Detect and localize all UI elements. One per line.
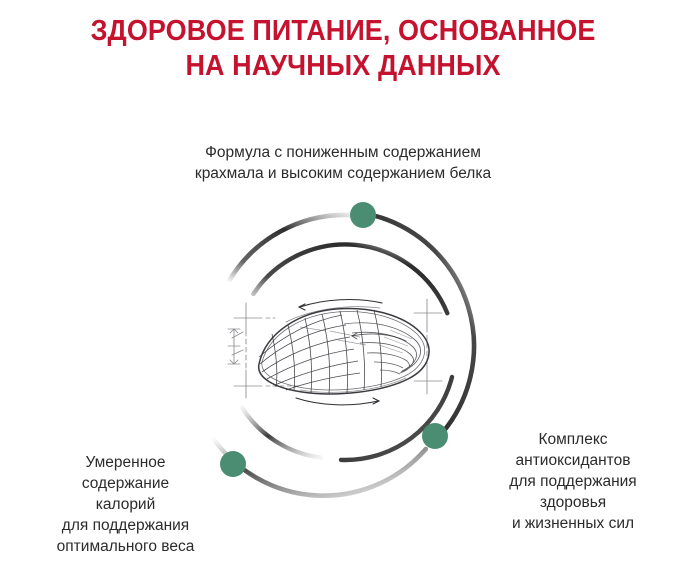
node-top-icon [350, 202, 376, 228]
label-left-line-2: содержание [18, 473, 233, 494]
label-right-line-1: Комплекс [468, 429, 678, 450]
outer-ring [214, 215, 474, 496]
label-right-line-3: для поддержания [468, 471, 678, 492]
label-right-line-4: здоровья [468, 492, 678, 513]
label-left-line-4: для поддержания [18, 515, 233, 536]
label-low-starch-high-protein: Формула с пониженным содержанием крахмал… [0, 142, 686, 184]
label-left-line-1: Умеренное [18, 452, 233, 473]
label-left-line-3: калорий [18, 494, 233, 515]
label-antioxidant-complex: Комплекс антиоксидантов для поддержания … [468, 429, 678, 534]
label-right-line-2: антиоксидантов [468, 450, 678, 471]
corn-kernel-sketch [228, 299, 442, 405]
label-top-line-2: крахмала и высоким содержанием белка [0, 163, 686, 184]
label-right-line-5: и жизненных сил [468, 513, 678, 534]
label-left-line-5: оптимального веса [18, 536, 233, 557]
infographic-diagram: Формула с пониженным содержанием крахмал… [0, 0, 686, 587]
label-moderate-calories: Умеренное содержание калорий для поддерж… [18, 452, 233, 557]
node-bottom-right-icon [422, 423, 448, 449]
label-top-line-1: Формула с пониженным содержанием [0, 142, 686, 163]
